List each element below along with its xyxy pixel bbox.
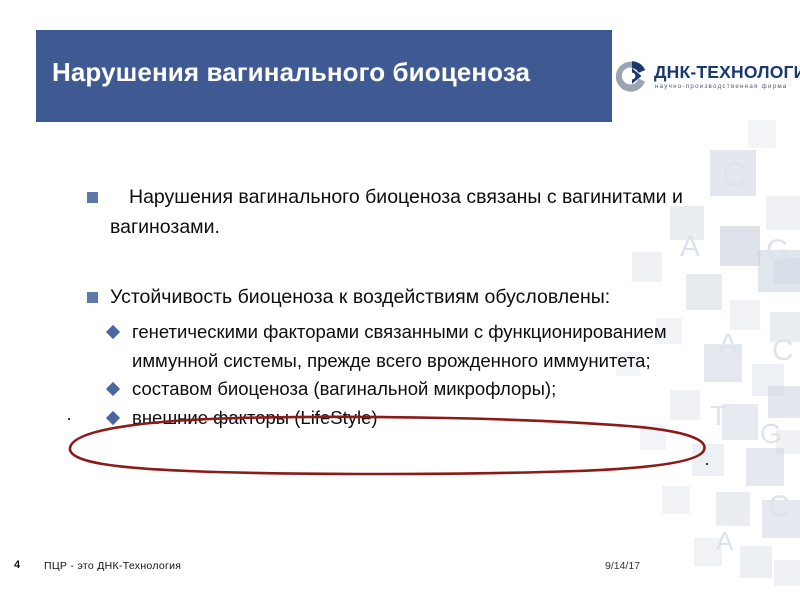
sub-bullet-item-2: составом биоценоза (вагинальной микрофло… <box>84 375 744 404</box>
footer-text: ПЦР - это ДНК-Технология <box>44 560 181 572</box>
sub-bullet-item-3: внешние факторы (LifeStyle) <box>84 404 744 433</box>
bg-glyph-c3: C <box>768 492 790 522</box>
page-title: Нарушения вагинального биоценоза <box>52 57 600 88</box>
scan-ink-dot <box>706 463 708 465</box>
logo-tagline: научно-производственная фирма <box>655 83 788 90</box>
slide-title-bar: Нарушения вагинального биоценоза <box>36 30 612 122</box>
bullet-item-1: Нарушения вагинального биоценоза связаны… <box>84 182 744 242</box>
bg-glyph-g: G <box>766 236 789 266</box>
footer-slide-number: 4 <box>14 559 20 571</box>
footer-date: 9/14/17 <box>605 560 640 572</box>
square-bullet-icon <box>87 292 98 303</box>
bullet-item-1-text: Нарушения вагинального биоценоза связаны… <box>110 186 683 238</box>
bg-glyph-c2: C <box>772 336 794 366</box>
slide-body: Нарушения вагинального биоценоза связаны… <box>84 182 744 432</box>
scan-ink-dot <box>68 418 70 420</box>
company-logo: ДНК-ТЕХНОЛОГИЯ научно-производственная ф… <box>614 52 794 108</box>
bg-glyph-g2: G <box>760 420 782 448</box>
sub-bullet-item-3-text: внешние факторы (LifeStyle) <box>132 407 378 428</box>
bg-glyph-a3: A <box>716 528 733 554</box>
bullet-item-2-text: Устойчивость биоценоза к воздействиям об… <box>110 286 610 308</box>
sub-bullet-item-1-text: генетическими факторами связанными с фун… <box>132 321 667 371</box>
sub-bullet-item-1: генетическими факторами связанными с фун… <box>84 318 744 375</box>
diamond-bullet-icon <box>106 382 120 396</box>
diamond-bullet-icon <box>106 410 120 424</box>
logo-wordmark: ДНК-ТЕХНОЛОГИЯ <box>654 62 800 83</box>
slide-canvas: C A G A C T G C A Нарушения вагинального… <box>0 0 800 600</box>
square-bullet-icon <box>87 192 98 203</box>
diamond-bullet-icon <box>106 325 120 339</box>
content-spacer <box>84 248 744 282</box>
bullet-item-2: Устойчивость биоценоза к воздействиям об… <box>84 282 744 312</box>
dna-swoosh-logo-mark <box>614 58 650 94</box>
sub-bullet-item-2-text: составом биоценоза (вагинальной микрофло… <box>132 378 556 399</box>
